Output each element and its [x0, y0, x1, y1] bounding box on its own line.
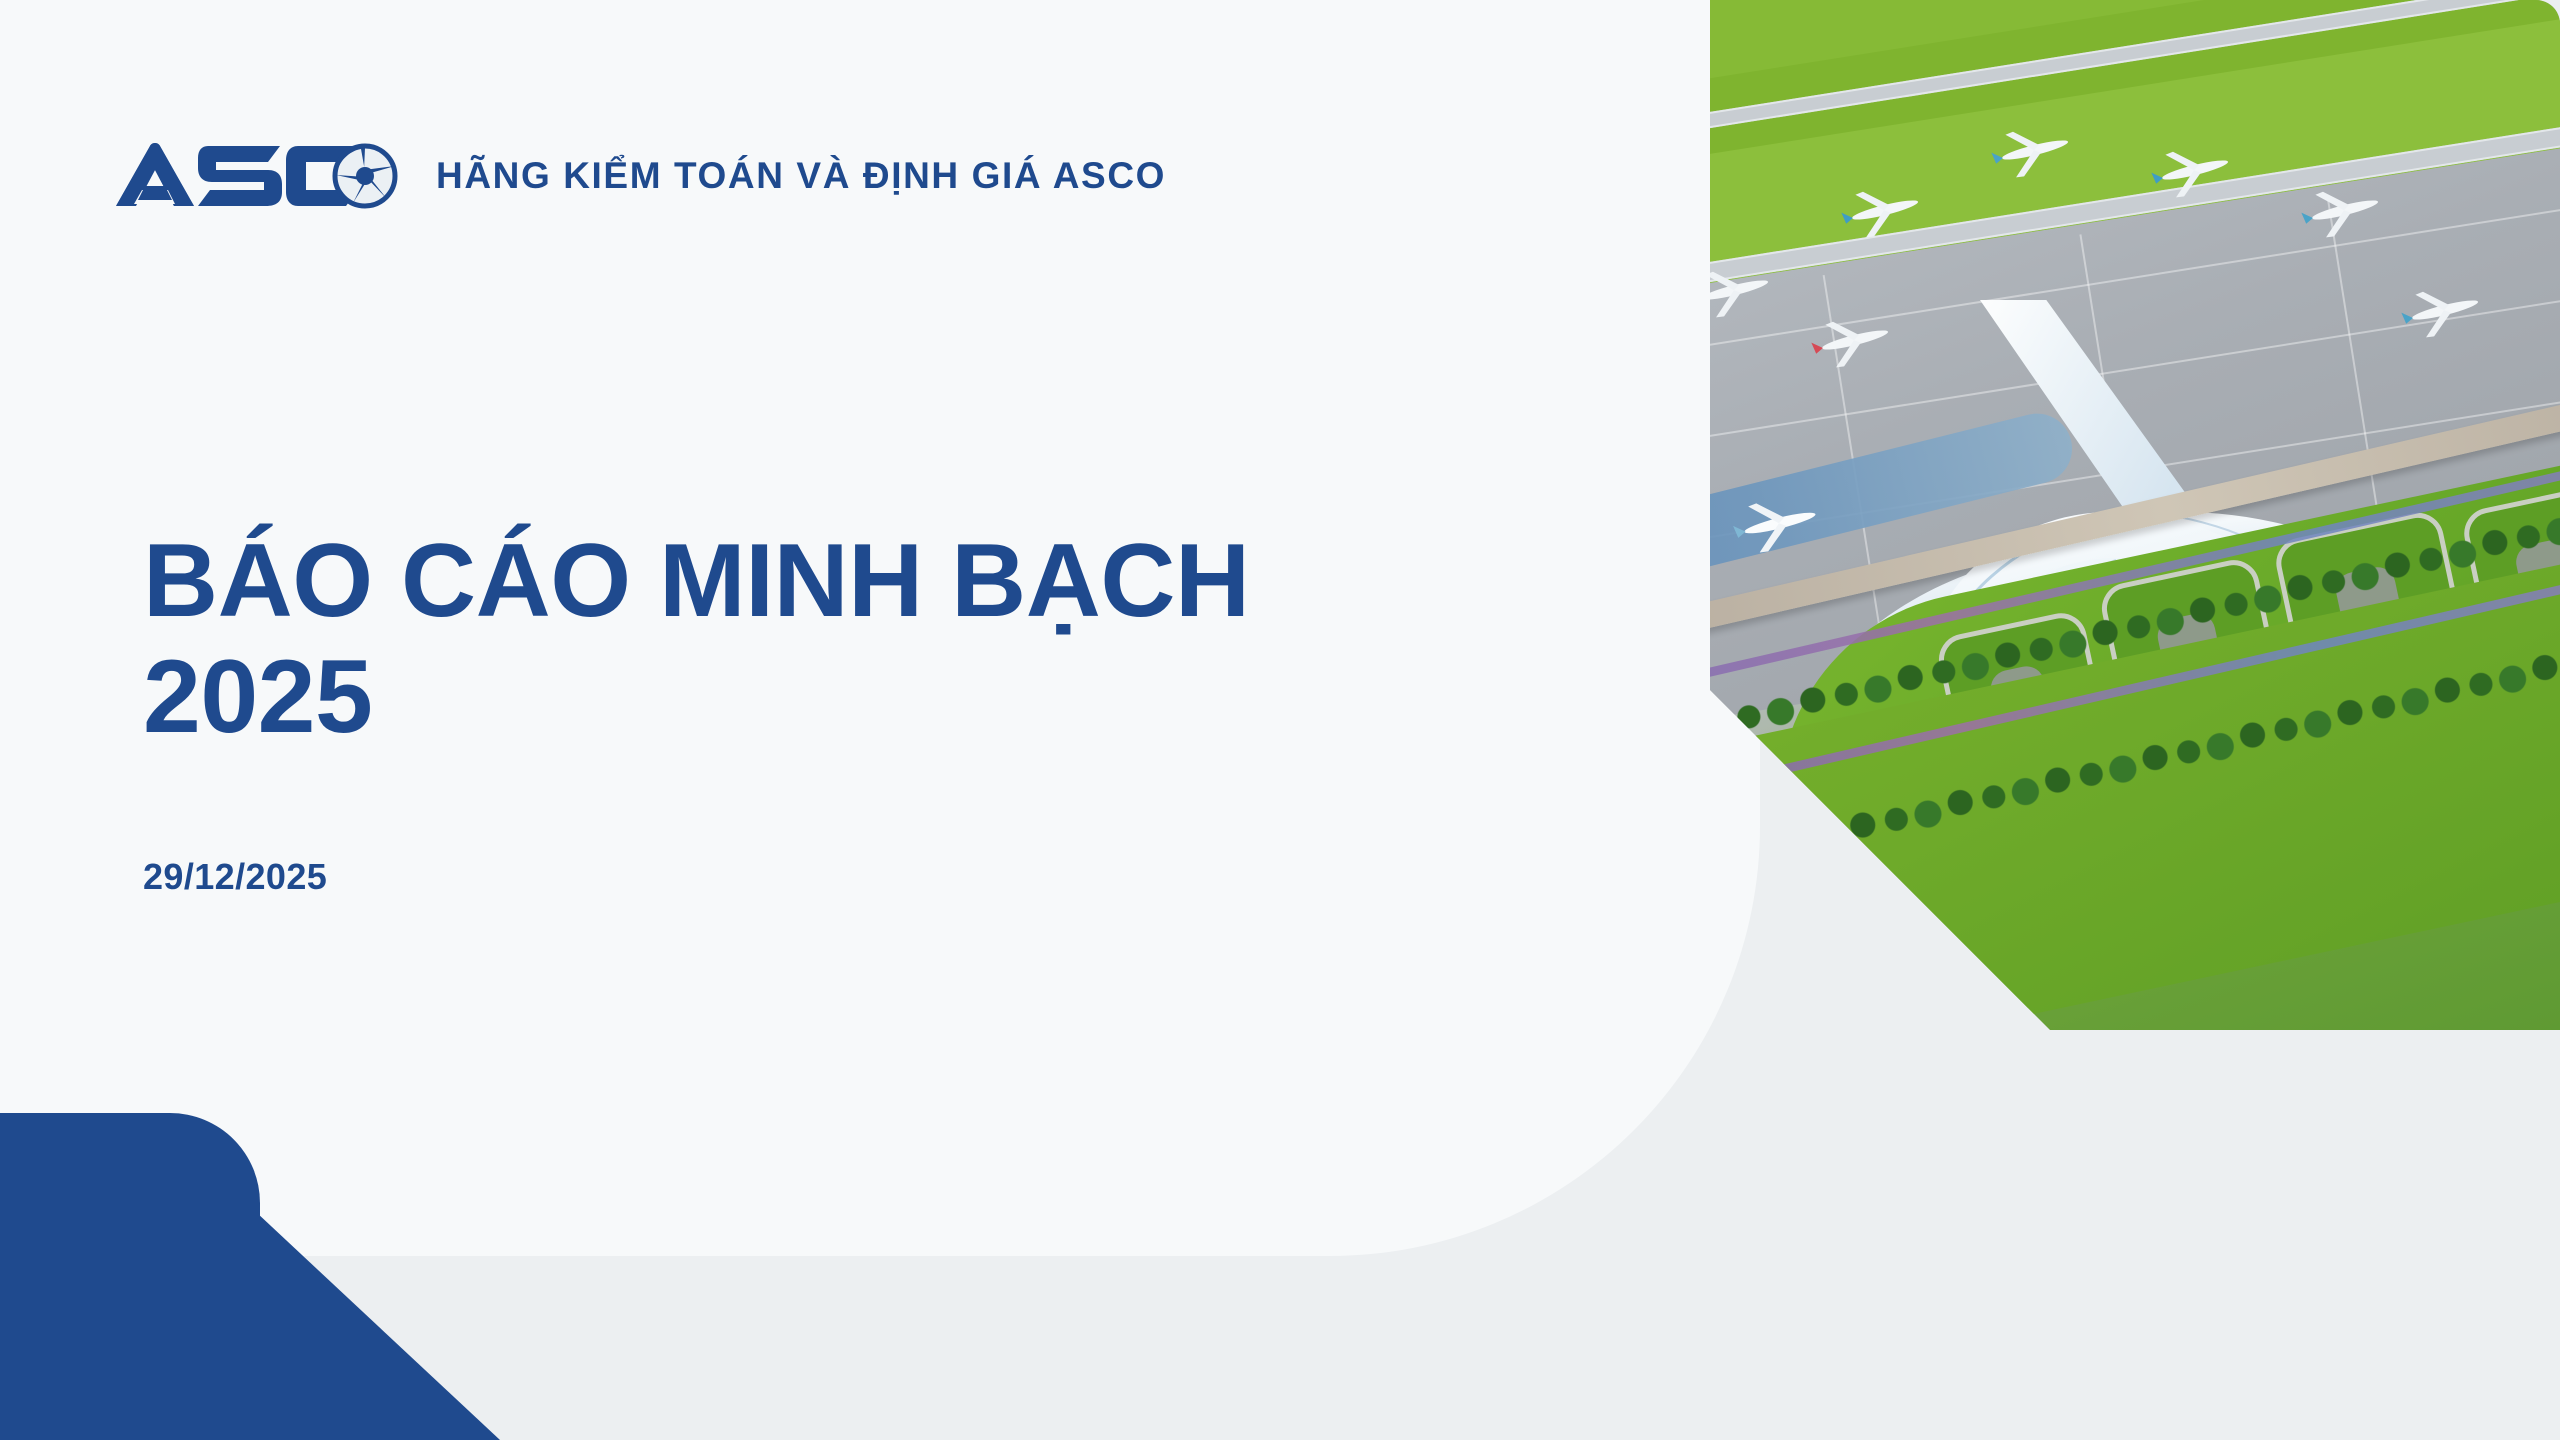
aircraft-icon — [1840, 170, 1930, 250]
aircraft-icon — [1810, 300, 1900, 380]
aircraft-icon — [1730, 480, 1830, 566]
brand-tagline: HÃNG KIỂM TOÁN VÀ ĐỊNH GIÁ ASCO — [436, 155, 1166, 197]
aircraft-icon — [2400, 270, 2490, 350]
report-date: 29/12/2025 — [143, 856, 1473, 898]
navy-corner-wedge-cap — [0, 1113, 260, 1263]
aircraft-icon — [2300, 170, 2390, 250]
title-slide: HÃNG KIỂM TOÁN VÀ ĐỊNH GIÁ ASCO BÁO CÁO … — [0, 0, 2560, 1440]
title-block: BÁO CÁO MINH BẠCH 2025 29/12/2025 — [143, 523, 1473, 898]
aircraft-icon — [2150, 130, 2240, 210]
brand-header: HÃNG KIỂM TOÁN VÀ ĐỊNH GIÁ ASCO — [112, 140, 1166, 212]
page-title: BÁO CÁO MINH BẠCH 2025 — [143, 523, 1473, 756]
aircraft-icon — [1990, 110, 2080, 190]
asco-logo — [112, 140, 402, 212]
